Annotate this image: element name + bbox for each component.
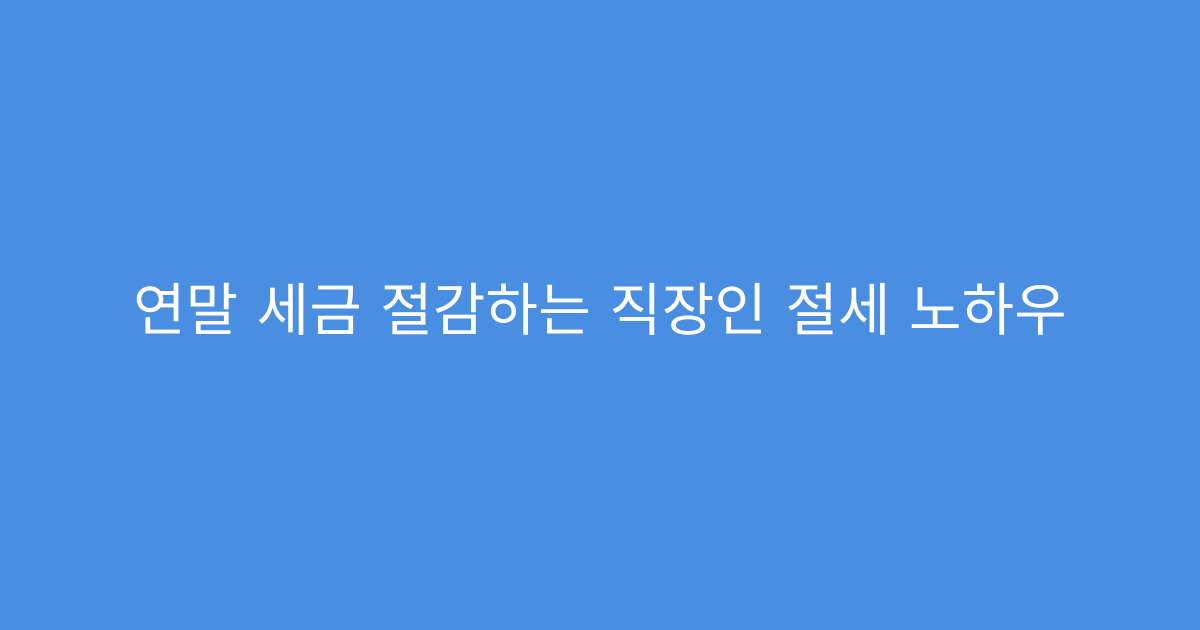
headline-container: 연말 세금 절감하는 직장인 절세 노하우 (70, 273, 1130, 349)
page-title: 연말 세금 절감하는 직장인 절세 노하우 (133, 273, 1067, 349)
social-share-card: 연말 세금 절감하는 직장인 절세 노하우 (0, 0, 1200, 630)
